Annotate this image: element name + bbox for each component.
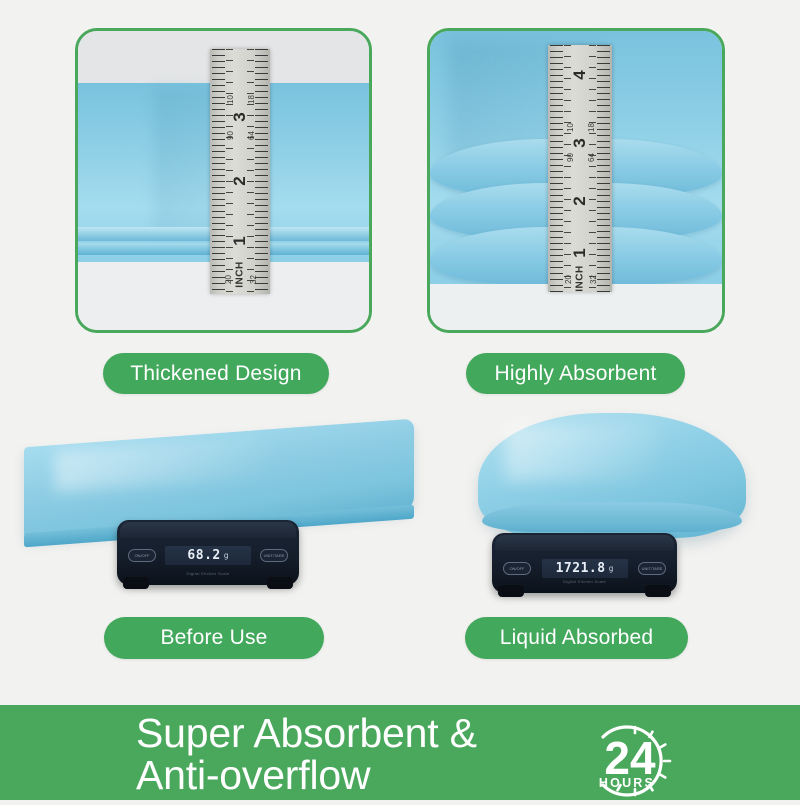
underpad-highlight: [55, 435, 270, 492]
ruler-metric-mark-10: 10: [226, 95, 235, 104]
clock-icon: 24 HOURS: [570, 717, 700, 805]
scale-foot-right: [645, 585, 671, 597]
ruler-number-1: 1: [570, 248, 590, 257]
photo-frame-thickened-design: 3 2 1 INCH 10 18 90 64 20 32: [75, 28, 372, 333]
ruler-unit-label: INCH: [575, 265, 586, 291]
ruler-ticks-right: [255, 49, 268, 294]
ruler-ticks-right: [597, 45, 610, 292]
scale-weight-value: 68.2: [187, 548, 220, 563]
photo-before-use: ON/OFF 68.2 g UNIT/TARE Digital Kitchen …: [12, 415, 427, 610]
ruler-metric-mark-32: 32: [249, 275, 258, 284]
scale-brand-text: Digital Kitchen Scale: [187, 571, 230, 576]
photo-frame-highly-absorbent: 4 3 2 1 INCH 10 18 90 64 20 32: [427, 28, 725, 333]
ruler-metric-mark-20: 20: [564, 275, 573, 284]
underpad-highlight: [505, 423, 660, 481]
label-thickened-design: Thickened Design: [103, 353, 329, 394]
scale-unit-tare-button[interactable]: UNIT/TARE: [260, 549, 288, 562]
ruler-ticks-left: [550, 45, 563, 292]
banner-headline: Super Absorbent & Anti-overflow: [136, 713, 477, 797]
scale-weight-value: 1721.8: [556, 561, 606, 576]
digital-scale: ON/OFF 68.2 g UNIT/TARE Digital Kitchen …: [117, 520, 299, 585]
ruler-metric-mark-32: 32: [589, 275, 598, 284]
scale-foot-left: [498, 585, 524, 597]
scale-display: 68.2 g: [165, 546, 251, 565]
ruler-metric-mark-90: 90: [566, 153, 575, 162]
badge-caption: HOURS: [599, 776, 655, 790]
scale-unit-tare-button[interactable]: UNIT/TARE: [638, 562, 666, 575]
label-before-use: Before Use: [104, 617, 324, 659]
ruler-number-3: 3: [570, 138, 590, 147]
ruler-metric-mark-90: 90: [226, 131, 235, 140]
scale-brand-text: Digital Kitchen Scale: [563, 579, 606, 584]
label-liquid-absorbed: Liquid Absorbed: [465, 617, 688, 659]
ruler-number-4: 4: [570, 70, 590, 79]
scale-power-button[interactable]: ON/OFF: [503, 562, 531, 575]
scale-power-button[interactable]: ON/OFF: [128, 549, 156, 562]
scale-weighing-deck: [120, 522, 296, 538]
photo-highly-absorbent: 4 3 2 1 INCH 10 18 90 64 20 32: [430, 31, 722, 330]
ruler-metric-mark-64: 64: [247, 131, 256, 140]
metal-ruler-icon: 3 2 1 INCH 10 18 90 64 20 32: [210, 49, 270, 294]
ruler-major-ticks-right: [247, 49, 254, 294]
scale-foot-left: [123, 577, 149, 589]
ruler-major-ticks-left: [226, 49, 233, 294]
scale-display: 1721.8 g: [542, 559, 628, 578]
ruler-metric-mark-18: 18: [247, 95, 256, 104]
ruler-ticks-left: [212, 49, 225, 294]
bottom-banner: Super Absorbent & Anti-overflow 24 HOURS: [0, 705, 800, 800]
scale-weighing-deck: [495, 535, 674, 551]
photo-liquid-absorbed: ON/OFF 1721.8 g UNIT/TARE Digital Kitche…: [430, 405, 800, 610]
ruler-metric-mark-18: 18: [587, 123, 596, 132]
banner-headline-line1: Super Absorbent &: [136, 710, 477, 756]
scale-foot-right: [267, 577, 293, 589]
banner-headline-line2: Anti-overflow: [136, 755, 477, 797]
scale-weight-unit: g: [609, 564, 614, 573]
ruler-metric-mark-20: 20: [224, 275, 233, 284]
ruler-metric-mark-64: 64: [587, 153, 596, 162]
ruler-metric-mark-10: 10: [566, 123, 575, 132]
ruler-unit-label: INCH: [235, 261, 246, 287]
ruler-number-2: 2: [570, 196, 590, 205]
metal-ruler-icon: 4 3 2 1 INCH 10 18 90 64 20 32: [548, 45, 612, 292]
ruler-number-2: 2: [230, 176, 250, 185]
ruler-number-1: 1: [230, 236, 250, 245]
label-highly-absorbent: Highly Absorbent: [466, 353, 685, 394]
ruler-number-3: 3: [230, 112, 250, 121]
photo-thickened-design: 3 2 1 INCH 10 18 90 64 20 32: [78, 31, 369, 330]
underpad-saturated: [478, 413, 746, 538]
scale-weight-unit: g: [224, 551, 229, 560]
ruler-major-ticks-right: [589, 45, 596, 292]
underpad-folded-edge: [482, 502, 742, 532]
digital-scale: ON/OFF 1721.8 g UNIT/TARE Digital Kitche…: [492, 533, 677, 593]
